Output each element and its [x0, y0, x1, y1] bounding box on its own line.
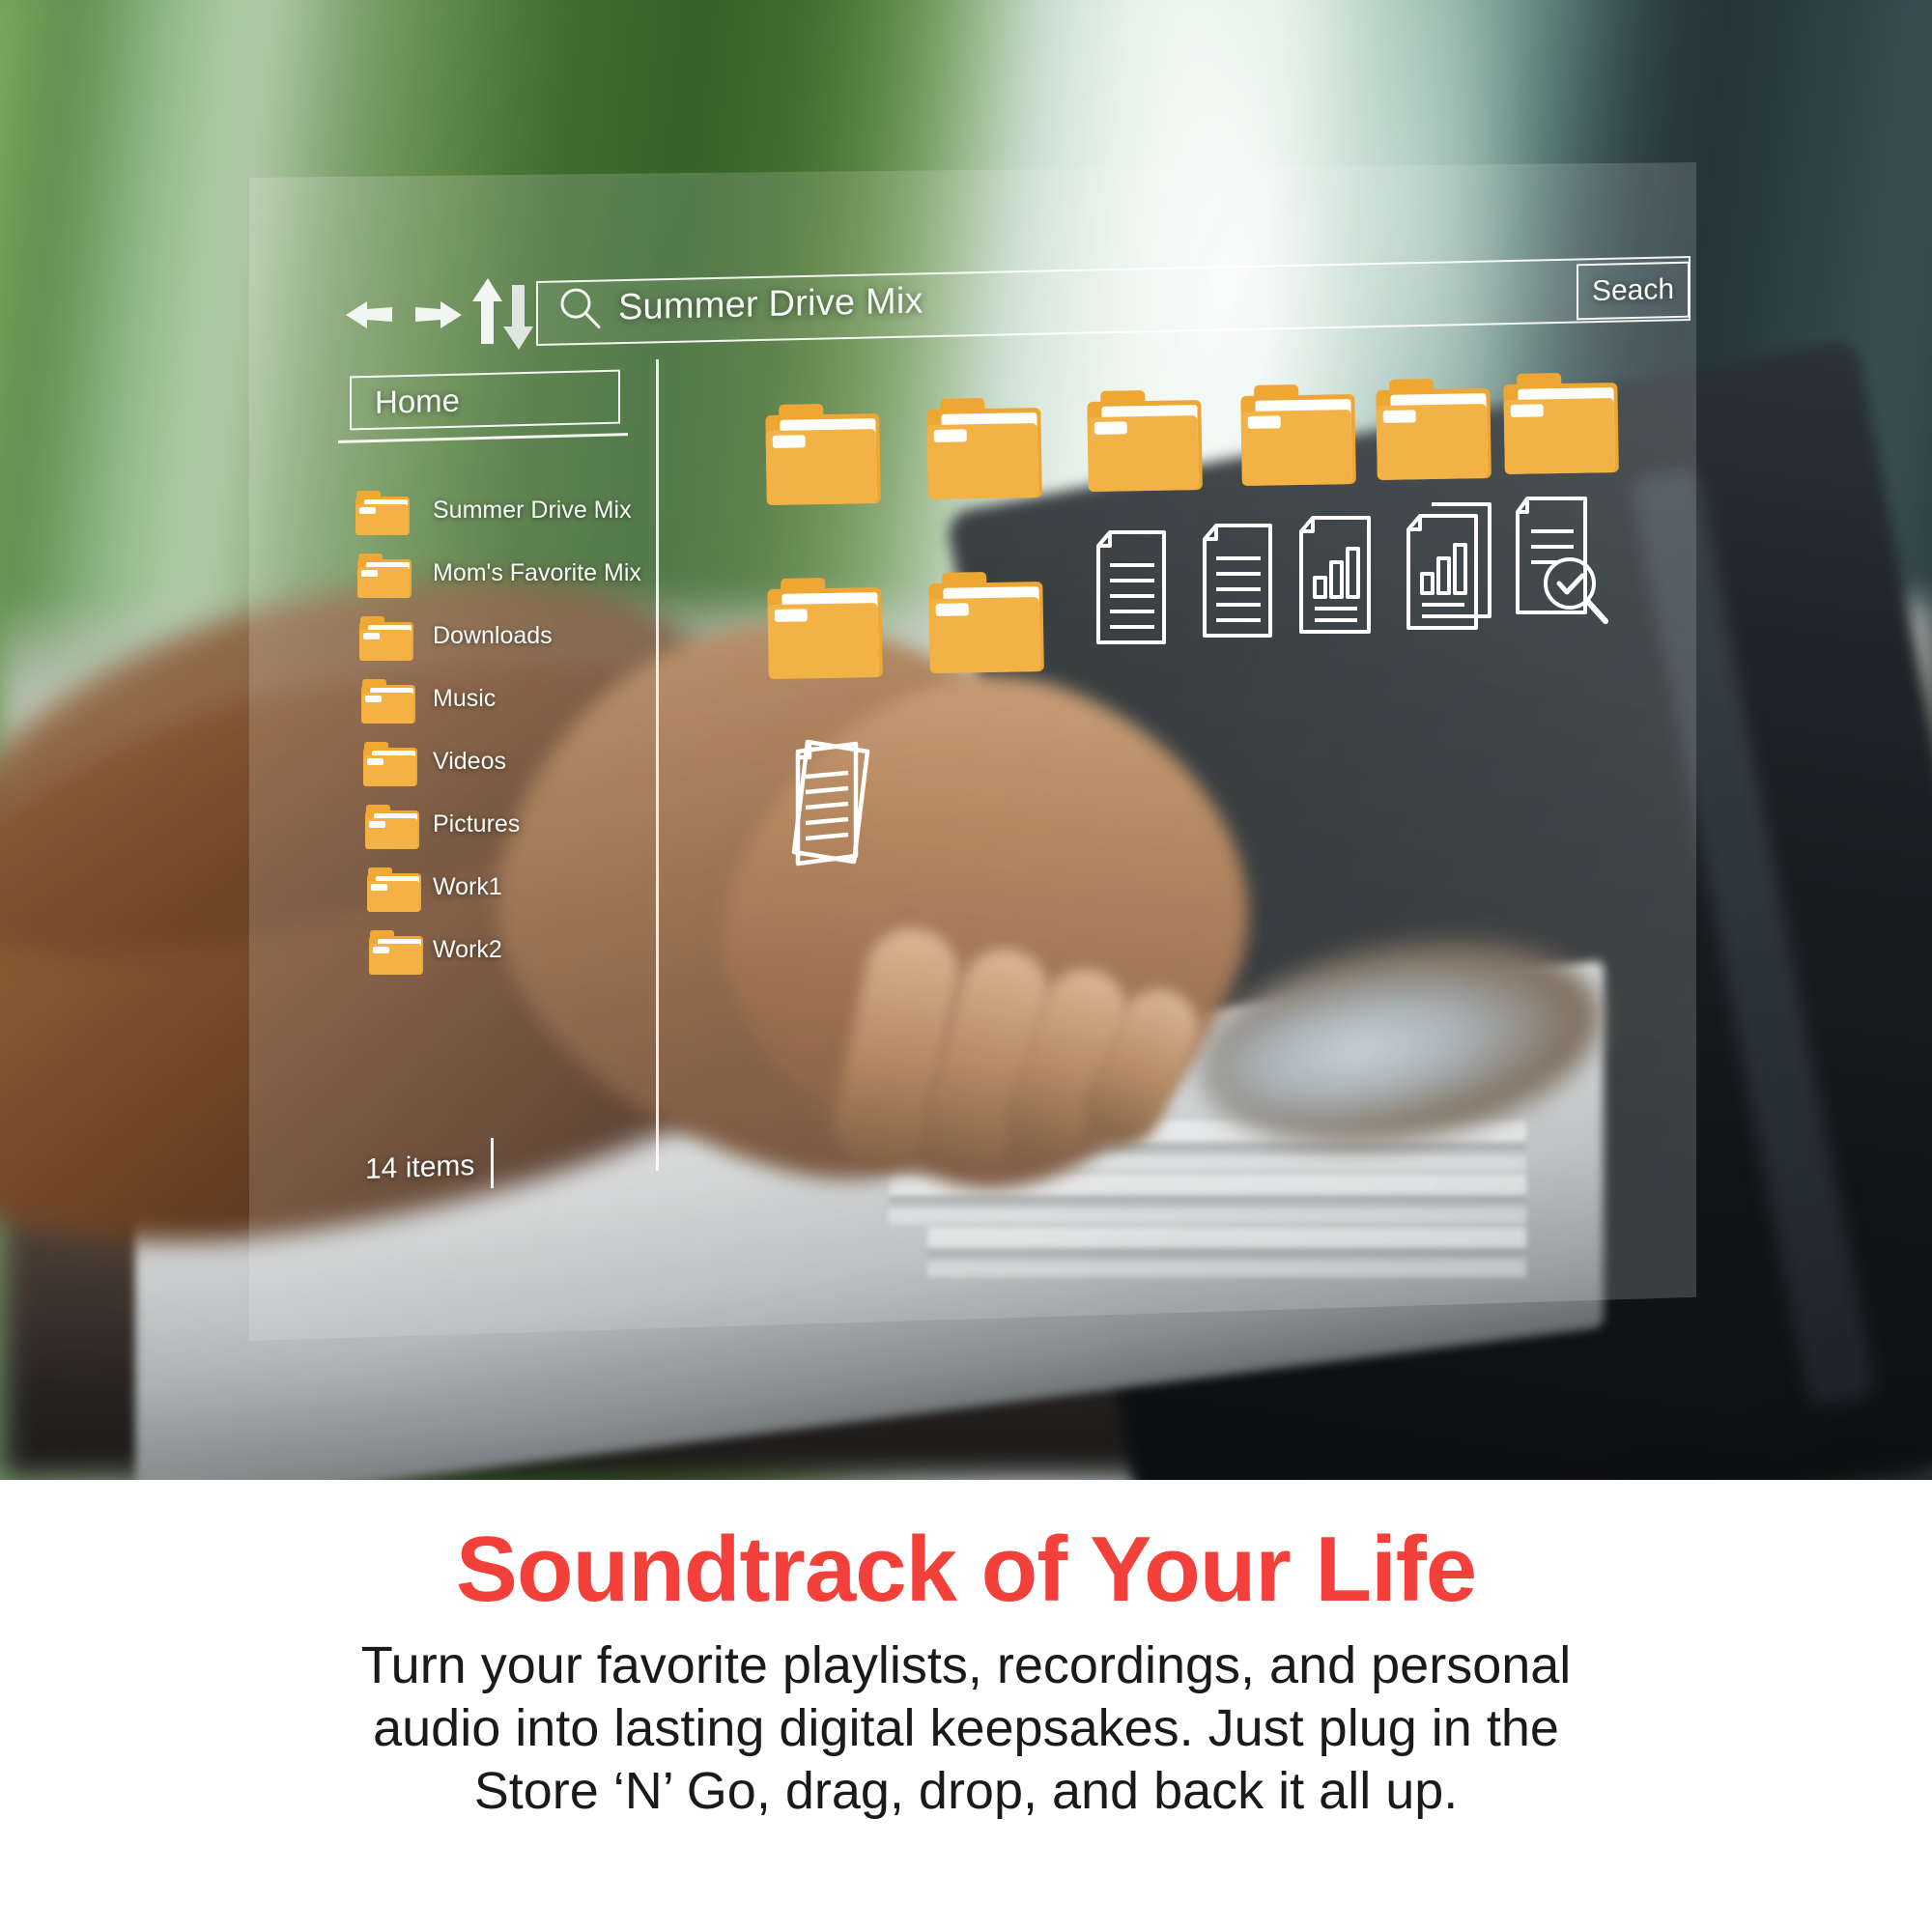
- sidebar-item-label: Videos: [433, 748, 506, 776]
- grid-folder-icon[interactable]: [767, 577, 883, 679]
- sidebar-item-moms-favorite-mix[interactable]: Mom's Favorite Mix: [355, 554, 645, 616]
- sidebar-list: Summer Drive Mix Mom's Favorite Mix Down…: [355, 491, 645, 993]
- marketing-body-line: Store ‘N’ Go, drag, drop, and back it al…: [155, 1760, 1777, 1823]
- status-bar-item-count: 14 items: [365, 1150, 474, 1186]
- marketing-panel: Soundtrack of Your Life Turn your favori…: [0, 1480, 1932, 1932]
- page-title: Soundtrack of Your Life: [0, 1522, 1932, 1617]
- sidebar-item-label: Summer Drive Mix: [433, 497, 632, 525]
- marketing-body-line: Turn your favorite playlists, recordings…: [155, 1634, 1777, 1697]
- sidebar-item-work2[interactable]: Work2: [355, 930, 645, 993]
- marketing-body: Turn your favorite playlists, recordings…: [155, 1634, 1777, 1822]
- sidebar-item-label: Mom's Favorite Mix: [433, 559, 641, 587]
- grid-folder-icon[interactable]: [1240, 384, 1356, 486]
- grid-folder-icon[interactable]: [765, 403, 881, 505]
- sidebar-item-videos[interactable]: Videos: [355, 742, 645, 805]
- sidebar-item-music[interactable]: Music: [355, 679, 645, 742]
- search-icon: [558, 285, 603, 330]
- sidebar-item-label: Music: [433, 685, 496, 713]
- sort-descending-icon[interactable]: [500, 282, 539, 352]
- sidebar-item-label: Pictures: [433, 810, 520, 838]
- sidebar-item-label: Work1: [433, 873, 502, 901]
- document-icon[interactable]: [1195, 520, 1290, 643]
- grid-folder-icon[interactable]: [926, 397, 1042, 499]
- sidebar-item-label: Downloads: [433, 622, 553, 650]
- sidebar-item-summer-drive-mix[interactable]: Summer Drive Mix: [355, 491, 645, 554]
- status-bar-divider: [491, 1138, 494, 1188]
- sidebar-divider-vertical: [656, 359, 659, 1171]
- grid-folder-icon[interactable]: [1503, 372, 1619, 474]
- folder-icon: [365, 805, 419, 849]
- grid-folder-icon[interactable]: [1376, 378, 1492, 480]
- sidebar-item-work1[interactable]: Work1: [355, 867, 645, 930]
- hero-photo: Summer Drive Mix Seach Home Summer Drive…: [0, 0, 1932, 1480]
- marketing-body-line: audio into lasting digital keepsakes. Ju…: [155, 1697, 1777, 1760]
- page-root: Summer Drive Mix Seach Home Summer Drive…: [0, 0, 1932, 1932]
- folder-icon: [355, 491, 410, 535]
- document-stack-icon[interactable]: [773, 736, 898, 879]
- folder-icon: [369, 930, 423, 975]
- chart-document-stack-icon[interactable]: [1399, 502, 1511, 634]
- grid-folder-icon[interactable]: [1087, 389, 1203, 492]
- document-icon[interactable]: [1089, 526, 1183, 650]
- folder-icon: [359, 616, 413, 661]
- folder-icon: [357, 554, 412, 598]
- chart-document-icon[interactable]: [1290, 512, 1390, 639]
- sidebar-item-downloads[interactable]: Downloads: [355, 616, 645, 679]
- document-search-check-icon[interactable]: [1504, 495, 1618, 630]
- folder-icon: [367, 867, 421, 912]
- folder-icon: [361, 679, 415, 724]
- sidebar-item-pictures[interactable]: Pictures: [355, 805, 645, 867]
- search-input[interactable]: Summer Drive Mix: [618, 281, 923, 329]
- folder-icon: [363, 742, 417, 786]
- sidebar-divider-horizontal: [338, 433, 628, 443]
- search-button[interactable]: Seach: [1577, 262, 1690, 321]
- sidebar-item-label: Work2: [433, 936, 502, 964]
- file-explorer-overlay: Summer Drive Mix Seach Home Summer Drive…: [0, 0, 1932, 1480]
- grid-folder-icon[interactable]: [928, 571, 1044, 673]
- breadcrumb-home-tab[interactable]: Home: [350, 370, 620, 431]
